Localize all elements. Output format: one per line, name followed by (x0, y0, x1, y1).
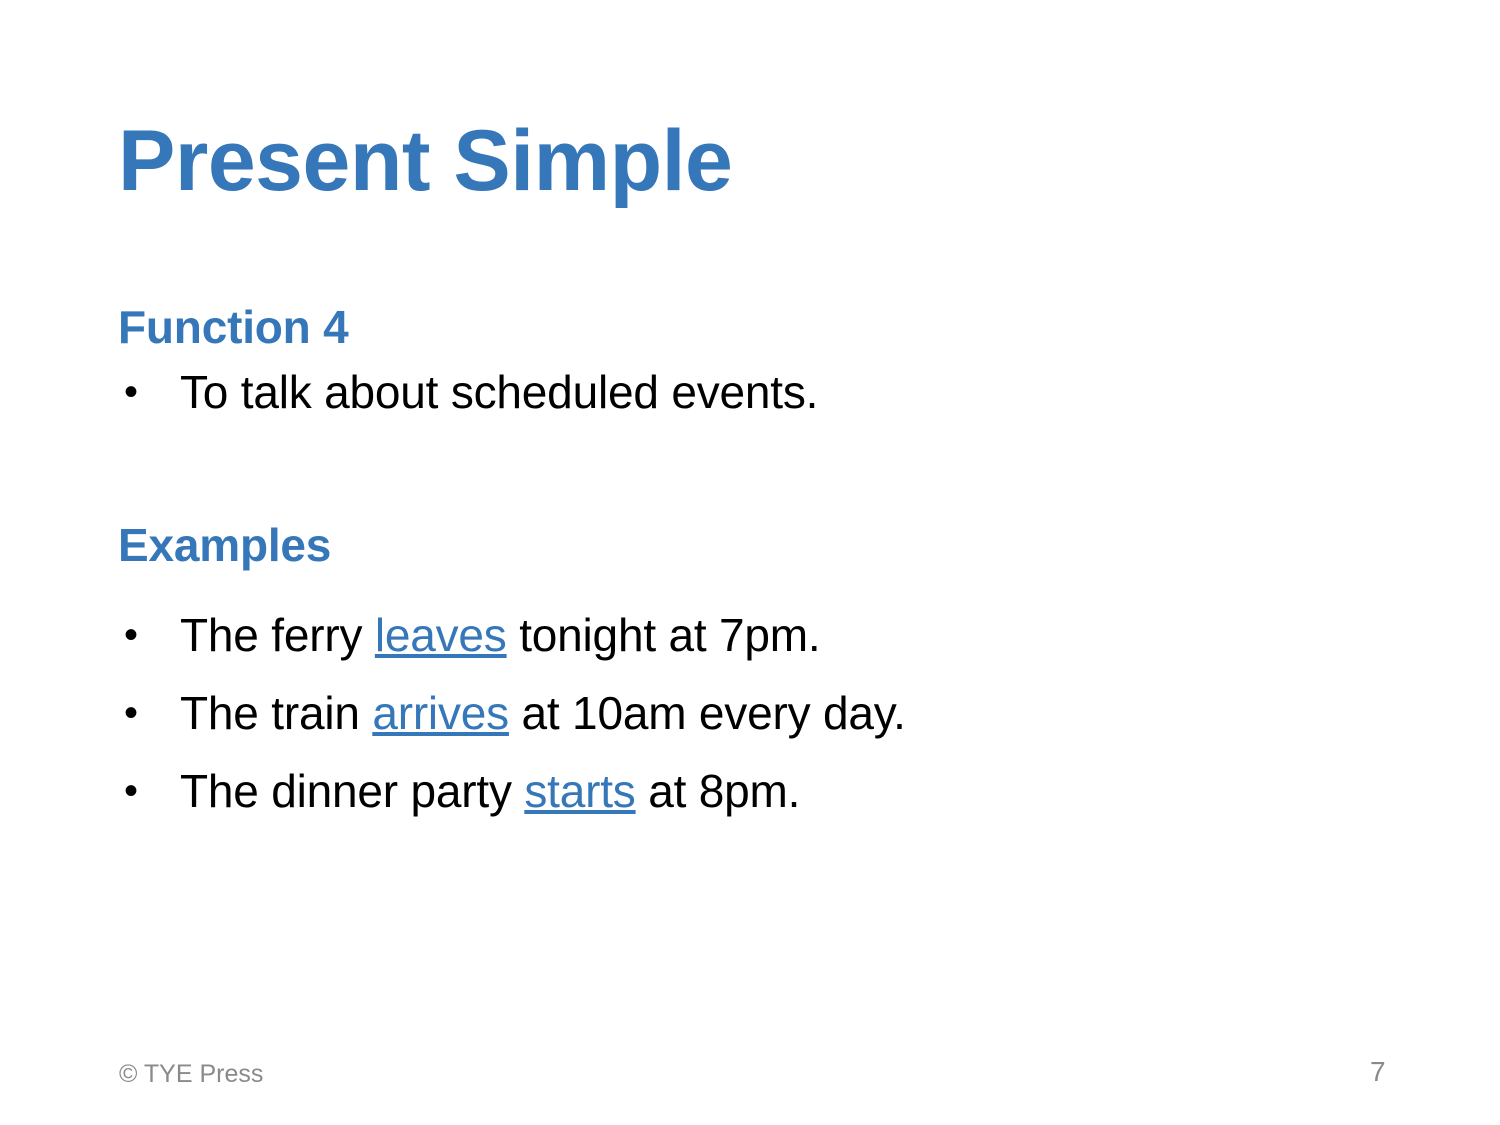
list-item-text-before: The train (180, 687, 372, 739)
list-item-text: To talk about scheduled events. (180, 366, 818, 418)
slide: Present Simple Function 4 • To talk abou… (0, 0, 1500, 1125)
function-bullet-list: • To talk about scheduled events. (118, 364, 1408, 420)
slide-body: Function 4 • To talk about scheduled eve… (118, 300, 1408, 819)
examples-section-heading: Examples (118, 518, 1408, 572)
list-item-text-after: at 10am every day. (509, 687, 906, 739)
copyright-footer: © TYE Press (119, 1059, 263, 1089)
spacer (118, 420, 1408, 518)
spacer (118, 573, 1408, 585)
list-item: • The dinner party starts at 8pm. (118, 763, 1408, 819)
highlighted-verb: starts (524, 765, 635, 817)
page-number: 7 (1370, 1055, 1386, 1089)
examples-bullet-list: • The ferry leaves tonight at 7pm. • The… (118, 607, 1408, 819)
highlighted-verb: leaves (375, 609, 507, 661)
list-item-text-after: at 8pm. (636, 765, 801, 817)
list-item: • To talk about scheduled events. (118, 364, 1408, 420)
list-item: • The ferry leaves tonight at 7pm. (118, 607, 1408, 663)
list-item-text-before: The dinner party (180, 765, 524, 817)
list-item-text-before: The ferry (180, 609, 375, 661)
bullet-dot-icon: • (124, 763, 138, 820)
page-title: Present Simple (118, 118, 1398, 204)
bullet-dot-icon: • (124, 364, 138, 421)
list-item-text-after: tonight at 7pm. (507, 609, 821, 661)
highlighted-verb: arrives (372, 687, 509, 739)
function-section-heading: Function 4 (118, 300, 1408, 354)
bullet-dot-icon: • (124, 685, 138, 742)
list-item: • The train arrives at 10am every day. (118, 685, 1408, 741)
spacer (118, 354, 1408, 364)
bullet-dot-icon: • (124, 607, 138, 664)
